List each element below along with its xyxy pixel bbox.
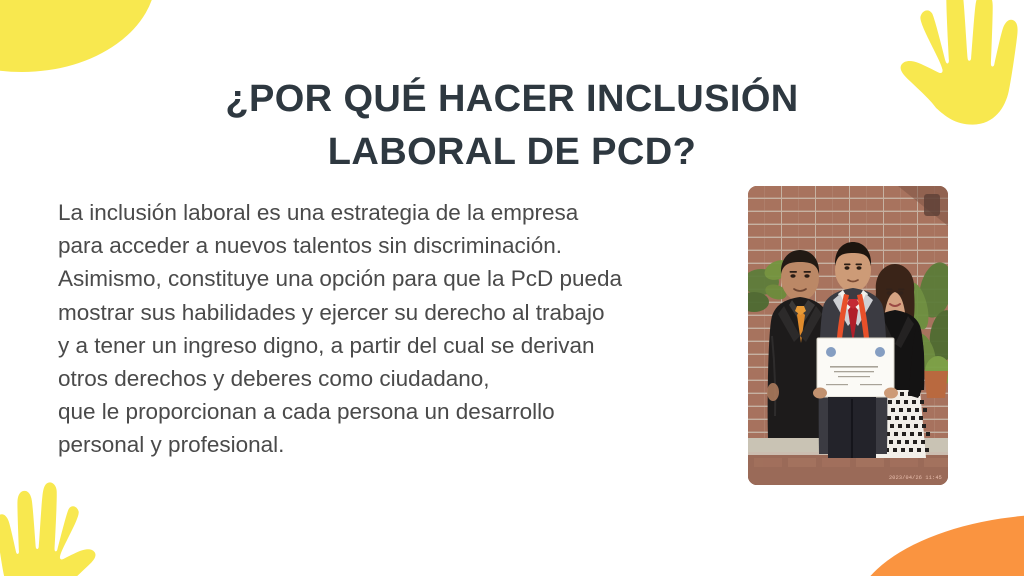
title-line-2: LABORAL DE PCD? [150, 126, 874, 178]
yellow-hand-top-right-icon [900, 0, 1018, 130]
graduation-photo: 2023/04/26 11:45 [748, 186, 948, 485]
slide-canvas: ¿POR QUÉ HACER INCLUSIÓN LABORAL DE PCD?… [0, 0, 1024, 576]
body-line-8: personal y profesional. [58, 428, 730, 461]
body-paragraph: La inclusión laboral es una estrategia d… [58, 196, 730, 462]
body-line-6: otros derechos y deberes como ciudadano, [58, 362, 730, 395]
slide-title: ¿POR QUÉ HACER INCLUSIÓN LABORAL DE PCD? [150, 73, 874, 178]
photo-timestamp: 2023/04/26 11:45 [889, 475, 942, 481]
body-line-5: y a tener un ingreso digno, a partir del… [58, 329, 730, 362]
body-line-3: Asimismo, constituye una opción para que… [58, 262, 730, 295]
body-line-1: La inclusión laboral es una estrategia d… [58, 196, 730, 229]
yellow-hand-bottom-left-icon [0, 482, 96, 576]
orange-blob-decoration [852, 514, 1024, 576]
body-line-2: para acceder a nuevos talentos sin discr… [58, 229, 730, 262]
body-line-4: mostrar sus habilidades y ejercer su der… [58, 296, 730, 329]
body-line-7: que le proporcionan a cada persona un de… [58, 395, 730, 428]
title-line-1: ¿POR QUÉ HACER INCLUSIÓN [150, 73, 874, 125]
yellow-circle-decoration [0, 0, 156, 72]
